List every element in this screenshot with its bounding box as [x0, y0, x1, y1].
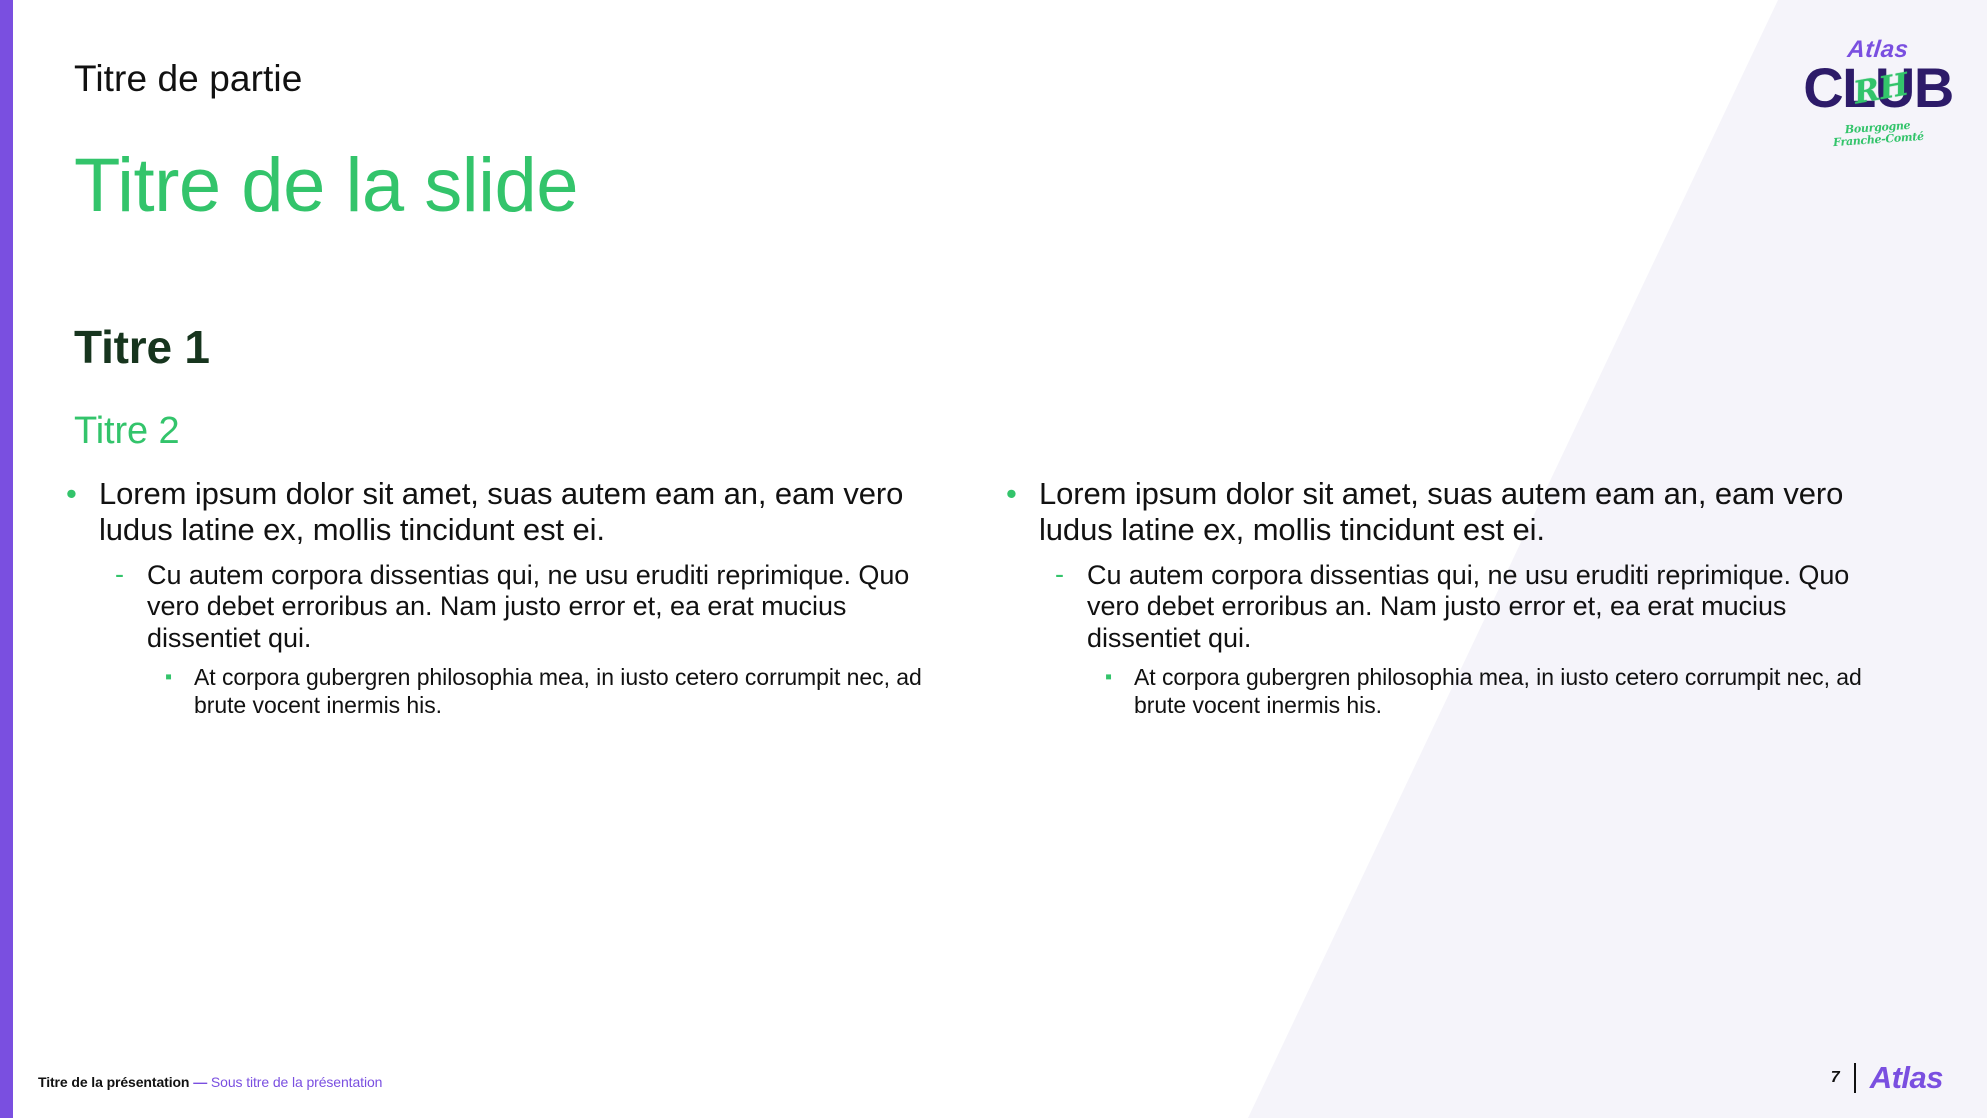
bullet-list-level-2: - Cu autem corpora dissentias qui, ne us… — [99, 560, 934, 720]
body-columns: • Lorem ipsum dolor sit amet, suas autem… — [62, 476, 1952, 719]
bullet-dot-icon: • — [1006, 476, 1017, 512]
bullet-dash-icon: - — [115, 559, 124, 591]
footer-divider — [1854, 1063, 1856, 1093]
list-item: - Cu autem corpora dissentias qui, ne us… — [99, 560, 934, 720]
list-item-text: Lorem ipsum dolor sit amet, suas autem e… — [1039, 476, 1843, 547]
left-accent-bar — [0, 0, 13, 1118]
bullet-list-level-2: - Cu autem corpora dissentias qui, ne us… — [1039, 560, 1874, 720]
atlas-brand-wordmark: Atlas — [1870, 1060, 1943, 1096]
list-item-text: Cu autem corpora dissentias qui, ne usu … — [147, 560, 909, 653]
slide-content: Titre de partie Titre de la slide Titre … — [0, 0, 1987, 1118]
body-column-left: • Lorem ipsum dolor sit amet, suas autem… — [62, 476, 934, 719]
list-item: • Lorem ipsum dolor sit amet, suas autem… — [1002, 476, 1874, 719]
list-item: ▪ At corpora gubergren philosophia mea, … — [147, 664, 934, 719]
logo-region-script: Bourgogne Franche-Comté — [1827, 119, 1928, 149]
heading-level-2: Titre 2 — [74, 410, 180, 453]
list-item: • Lorem ipsum dolor sit amet, suas autem… — [62, 476, 934, 719]
atlas-club-rh-logo: Atlas CLUB RH Bourgogne Franche-Comté — [1817, 36, 1939, 148]
section-kicker: Titre de partie — [74, 58, 302, 100]
footer-title-text: Titre de la présentation — [38, 1074, 189, 1090]
bullet-list-level-3: ▪ At corpora gubergren philosophia mea, … — [1087, 664, 1874, 719]
list-item-text: At corpora gubergren philosophia mea, in… — [194, 664, 922, 718]
heading-level-1: Titre 1 — [74, 320, 210, 374]
page-number: 7 — [1831, 1069, 1840, 1087]
list-item-text: Cu autem corpora dissentias qui, ne usu … — [1087, 560, 1849, 653]
list-item-text: At corpora gubergren philosophia mea, in… — [1134, 664, 1862, 718]
page-title: Titre de la slide — [74, 148, 578, 224]
bullet-dash-icon: - — [1055, 559, 1064, 591]
logo-rh-script: RH — [1851, 69, 1911, 109]
body-column-right: • Lorem ipsum dolor sit amet, suas autem… — [1002, 476, 1874, 719]
footer-dash: — — [193, 1074, 207, 1090]
bullet-square-icon: ▪ — [1105, 665, 1112, 689]
footer-presentation-title: Titre de la présentation — Sous titre de… — [38, 1074, 382, 1090]
bullet-list-level-3: ▪ At corpora gubergren philosophia mea, … — [147, 664, 934, 719]
bullet-dot-icon: • — [66, 476, 77, 512]
bullet-list-level-1: • Lorem ipsum dolor sit amet, suas autem… — [62, 476, 934, 719]
list-item: ▪ At corpora gubergren philosophia mea, … — [1087, 664, 1874, 719]
footer-right-group: 7 Atlas — [1831, 1060, 1943, 1096]
bullet-list-level-1: • Lorem ipsum dolor sit amet, suas autem… — [1002, 476, 1874, 719]
list-item: - Cu autem corpora dissentias qui, ne us… — [1039, 560, 1874, 720]
list-item-text: Lorem ipsum dolor sit amet, suas autem e… — [99, 476, 903, 547]
bullet-square-icon: ▪ — [165, 665, 172, 689]
footer-subtitle-text: Sous titre de la présentation — [211, 1074, 382, 1090]
slide: Titre de partie Titre de la slide Titre … — [0, 0, 1987, 1118]
